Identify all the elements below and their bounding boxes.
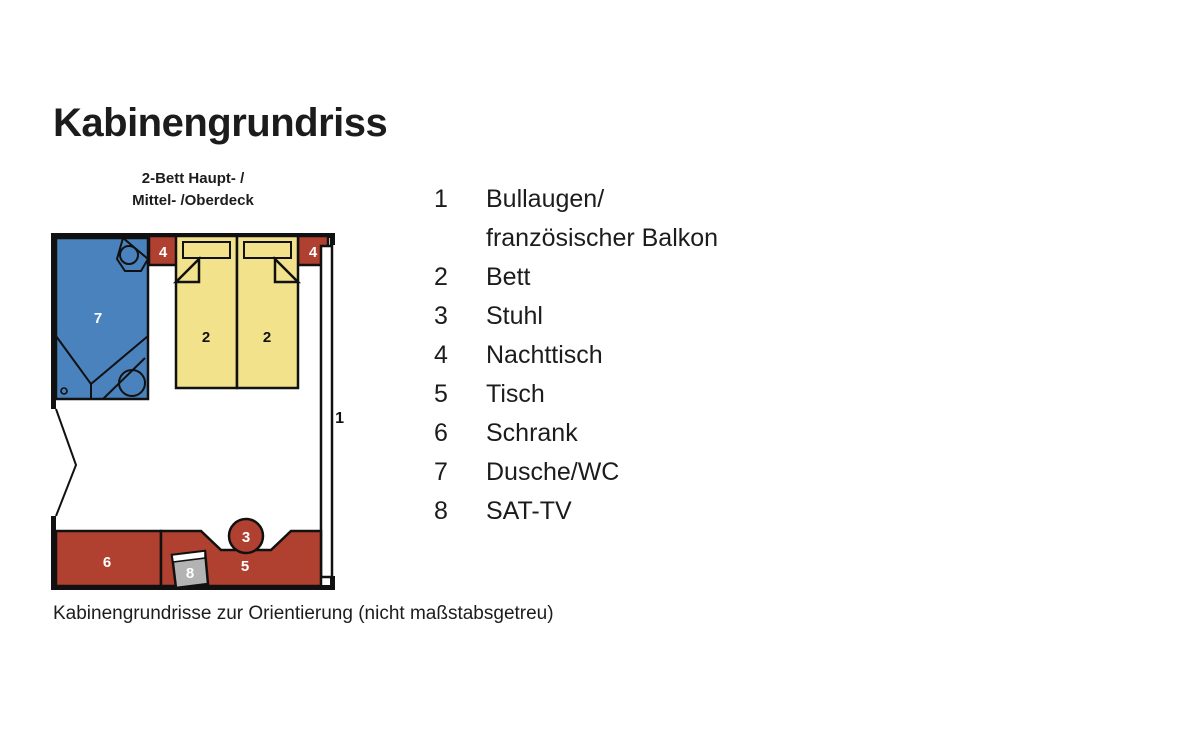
plan-marker-chair: 3 xyxy=(242,529,250,546)
legend-number: 5 xyxy=(434,375,486,414)
plan-subtitle-line-1: 2-Bett Haupt- / xyxy=(142,170,245,187)
legend-label: Dusche/WC xyxy=(486,453,864,492)
legend-number: 2 xyxy=(434,258,486,297)
bed-left-pillow xyxy=(183,242,230,258)
legend-label: Stuhl xyxy=(486,297,864,336)
legend-label: Tisch xyxy=(486,375,864,414)
legend-item-2: 2 Bett xyxy=(434,258,864,297)
legend-label: Nachttisch xyxy=(486,336,864,375)
legend-list: 1 Bullaugen/ französischer Balkon 2 Bett… xyxy=(434,180,864,531)
plan-marker-balcony: 1 xyxy=(335,410,344,427)
legend-number: 4 xyxy=(434,336,486,375)
balcony-shape xyxy=(321,246,332,577)
bathroom-unit: 7 xyxy=(56,238,148,399)
legend-label: SAT-TV xyxy=(486,492,864,531)
plan-caption: Kabinengrundrisse zur Orientierung (nich… xyxy=(53,603,554,625)
cabin-floor-plan: 7 4 4 2 2 1 xyxy=(45,226,345,598)
legend-number: 6 xyxy=(434,414,486,453)
legend-number: 8 xyxy=(434,492,486,531)
plan-marker-nightstand-left: 4 xyxy=(159,244,168,261)
page-title: Kabinengrundriss xyxy=(53,101,387,145)
plan-marker-nightstand-right: 4 xyxy=(309,244,318,261)
legend-label: Bullaugen/ französischer Balkon xyxy=(486,180,864,258)
legend-number: 7 xyxy=(434,453,486,492)
bed-left-unit: 2 xyxy=(176,236,237,388)
legend-item-4: 4 Nachttisch xyxy=(434,336,864,375)
plan-subtitle-line-2: Mittel- /Oberdeck xyxy=(132,192,254,209)
legend-number: 1 xyxy=(434,180,486,219)
nightstand-left-unit: 4 xyxy=(149,236,178,265)
legend-item-7: 7 Dusche/WC xyxy=(434,453,864,492)
legend-item-1: 1 Bullaugen/ französischer Balkon xyxy=(434,180,864,258)
legend-item-3: 3 Stuhl xyxy=(434,297,864,336)
plan-marker-tv: 8 xyxy=(186,565,194,582)
legend-label: Schrank xyxy=(486,414,864,453)
wall-right-upper xyxy=(330,233,335,245)
bed-right-unit: 2 xyxy=(237,236,298,388)
wardrobe-unit: 6 xyxy=(56,531,161,586)
balcony-unit: 1 xyxy=(321,246,344,577)
plan-marker-wardrobe: 6 xyxy=(103,554,111,571)
plan-subtitle: 2-Bett Haupt- / Mittel- /Oberdeck xyxy=(53,168,333,212)
plan-marker-table: 5 xyxy=(241,558,249,575)
legend-label: Bett xyxy=(486,258,864,297)
legend-item-5: 5 Tisch xyxy=(434,375,864,414)
plan-marker-bathroom: 7 xyxy=(94,310,102,327)
tv-unit: 8 xyxy=(172,551,208,588)
plan-marker-bed-left: 2 xyxy=(202,329,210,346)
legend-item-6: 6 Schrank xyxy=(434,414,864,453)
bed-right-pillow xyxy=(244,242,291,258)
plan-marker-bed-right: 2 xyxy=(263,329,271,346)
legend-number: 3 xyxy=(434,297,486,336)
chair-unit: 3 xyxy=(229,519,263,553)
legend-item-8: 8 SAT-TV xyxy=(434,492,864,531)
